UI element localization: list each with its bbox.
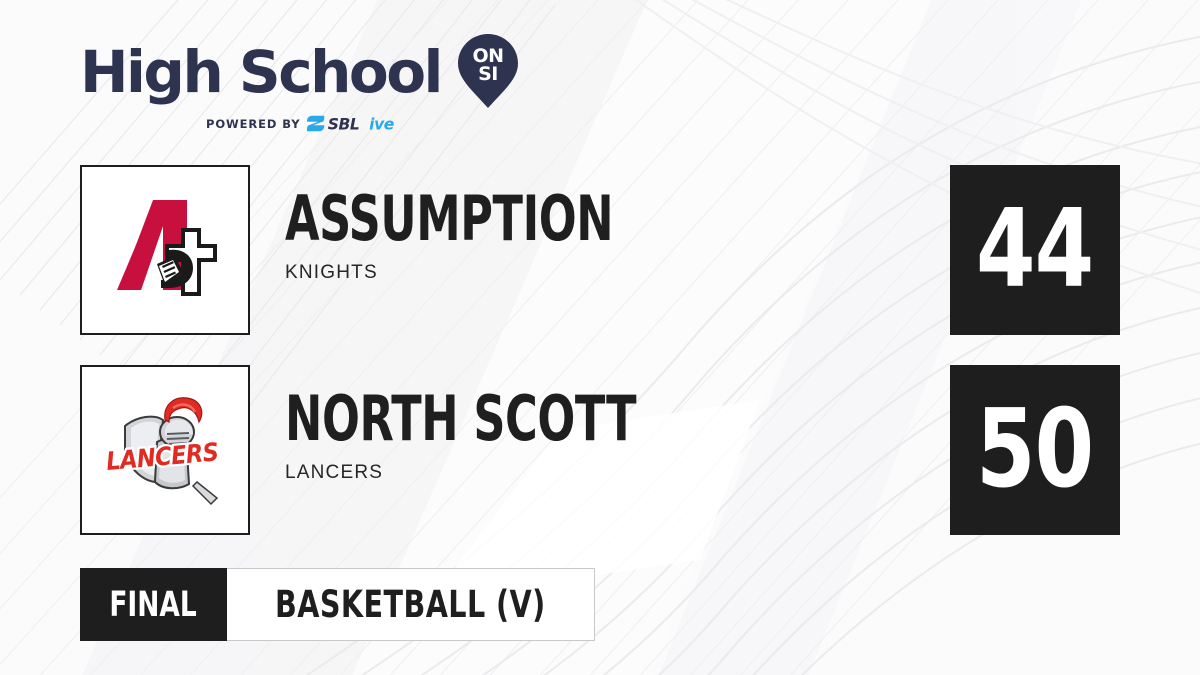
team-name: ASSUMPTION <box>285 189 613 250</box>
scoreboard-graphic: High School ON SI POWERED BY SBL ive <box>0 0 1200 675</box>
game-status-bar: FINAL BASKETBALL (V) <box>80 568 595 641</box>
north-scott-lancers-logo: LANCERS <box>101 386 229 514</box>
sblive-text-blue: ive <box>370 116 395 133</box>
sblive-text-dark: SBL <box>328 116 360 133</box>
score-box-assumption: 44 <box>950 165 1120 335</box>
pin-text-si: SI <box>478 63 498 85</box>
status-label: FINAL <box>110 585 197 625</box>
sblive-logo: SBL ive <box>307 114 409 133</box>
team-mascot: LANCERS <box>285 462 724 484</box>
score-value: 50 <box>976 396 1093 504</box>
status-badge: FINAL <box>80 568 227 641</box>
on-si-pin-icon: ON SI <box>457 34 519 108</box>
team-name: NORTH SCOTT <box>285 389 636 450</box>
sport-label: BASKETBALL (V) <box>275 583 546 626</box>
lancers-wordmark: LANCERS <box>105 437 220 476</box>
team-logo-box-north-scott: LANCERS <box>80 365 250 535</box>
score-box-north-scott: 50 <box>950 365 1120 535</box>
score-value: 44 <box>976 196 1093 304</box>
team-logo-box-assumption <box>80 165 250 335</box>
brand-header: High School ON SI POWERED BY SBL ive <box>80 38 519 133</box>
powered-by-row: POWERED BY SBL ive <box>206 114 519 133</box>
powered-by-label: POWERED BY <box>206 117 300 131</box>
team-text-north-scott: NORTH SCOTT LANCERS <box>285 389 724 484</box>
assumption-knights-logo <box>101 186 229 314</box>
sport-label-box: BASKETBALL (V) <box>227 568 595 641</box>
team-mascot: KNIGHTS <box>285 262 695 284</box>
team-text-assumption: ASSUMPTION KNIGHTS <box>285 189 695 284</box>
brand-wordmark: High School <box>80 46 441 99</box>
